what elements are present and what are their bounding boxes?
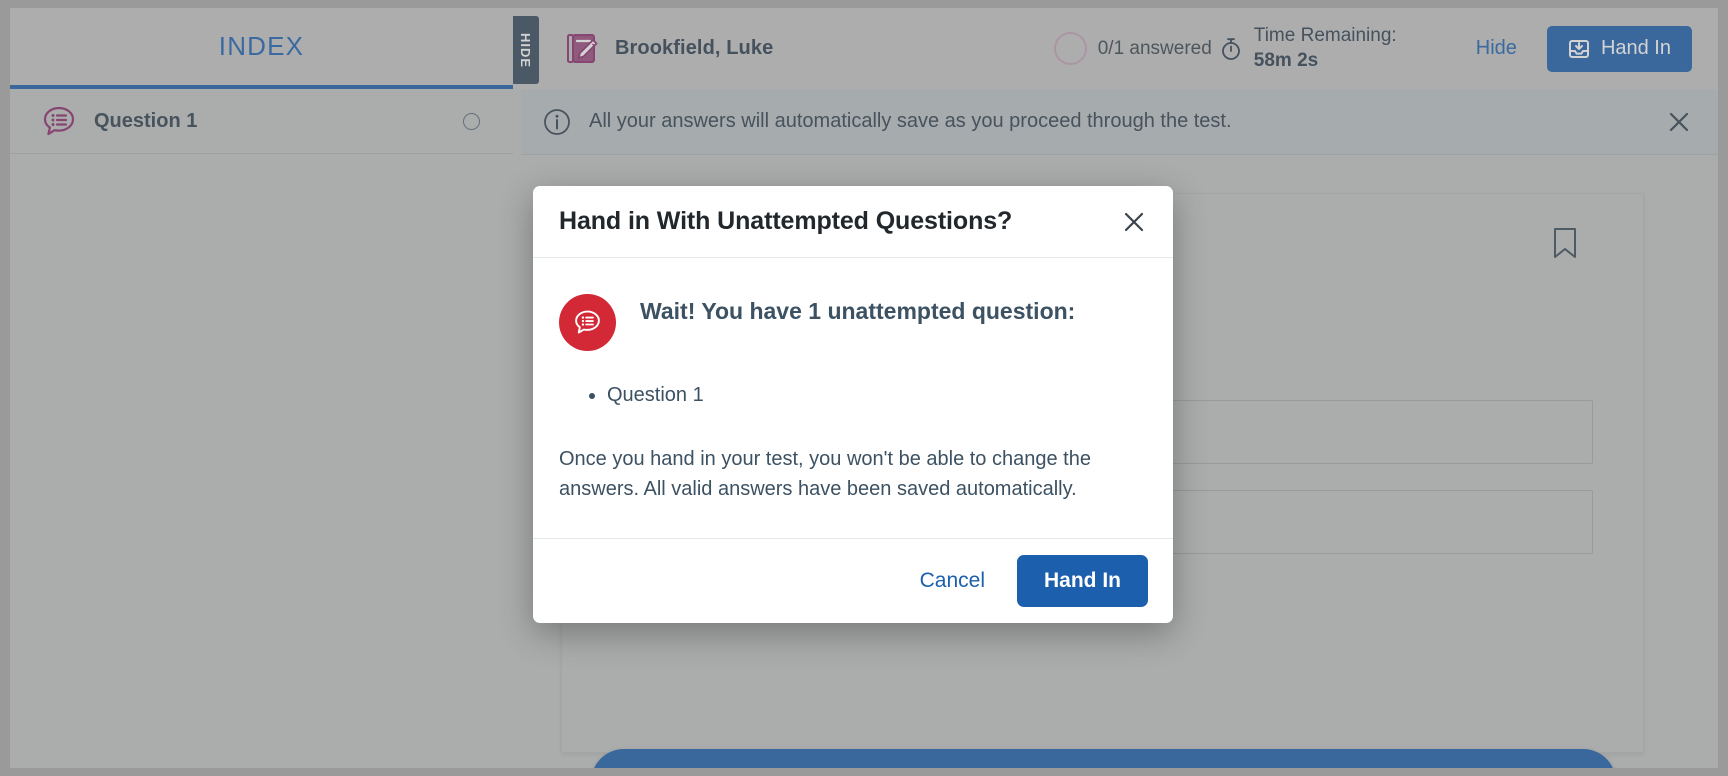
list-item: Question 1 — [607, 380, 1143, 410]
alert-row: Wait! You have 1 unattempted question: — [559, 290, 1143, 351]
close-icon — [1123, 211, 1145, 233]
alert-heading: Wait! You have 1 unattempted question: — [640, 298, 1143, 326]
app-root: INDEX HIDE Brookfield, Luke — [0, 0, 1728, 776]
hand-in-confirm-modal: Hand in With Unattempted Questions? — [533, 186, 1173, 623]
modal-footer: Cancel Hand In — [533, 539, 1173, 623]
alert-content: Wait! You have 1 unattempted question: — [640, 290, 1143, 326]
unattempted-question-list: Question 1 — [607, 380, 1143, 410]
cancel-button[interactable]: Cancel — [898, 559, 1007, 603]
modal-note-text: Once you hand in your test, you won't be… — [559, 444, 1143, 504]
modal-close-icon[interactable] — [1117, 205, 1151, 239]
modal-header: Hand in With Unattempted Questions? — [533, 186, 1173, 258]
page-frame: INDEX HIDE Brookfield, Luke — [10, 8, 1718, 768]
alert-badge — [559, 294, 616, 351]
modal-title: Hand in With Unattempted Questions? — [559, 207, 1117, 236]
modal-hand-in-button[interactable]: Hand In — [1017, 555, 1148, 607]
question-bubble-icon — [572, 307, 603, 338]
modal-body: Wait! You have 1 unattempted question: Q… — [533, 258, 1173, 539]
